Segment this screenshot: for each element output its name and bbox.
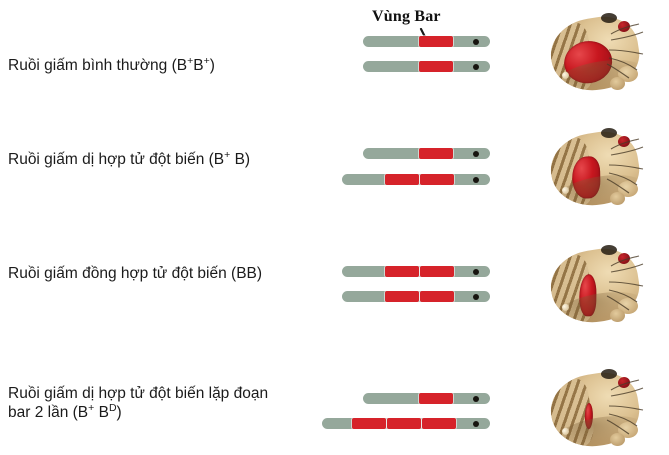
bar-region-segment-duplicate [387, 418, 421, 429]
bar-region-segment [419, 148, 453, 159]
centromere-icon [473, 177, 479, 183]
bar-region-segment [419, 61, 453, 72]
bar-eye-diagram: Vùng Bar Ruồi giấm bình thường (B+B+) [0, 0, 669, 455]
fly-head-wild-type [547, 12, 643, 96]
fly-head-double-bar [547, 368, 643, 452]
bar-region-segment [385, 266, 419, 277]
row-label-wild-type: Ruồi giấm bình thường (B+B+) [8, 56, 215, 75]
centromere-icon [473, 39, 479, 45]
bar-region-segment [352, 418, 386, 429]
bristles-icon [603, 20, 649, 82]
row-label-double-bar: Ruồi giấm dị hợp tử đột biến lặp đoạnbar… [8, 384, 268, 422]
bristles-icon [603, 135, 649, 197]
centromere-icon [473, 151, 479, 157]
fly-head-heterozygous-bar [547, 127, 643, 211]
centromere-icon [473, 64, 479, 70]
centromere-icon [473, 396, 479, 402]
chromosome-top-heterozygous-bar [363, 148, 490, 159]
bar-region-segment [419, 393, 453, 404]
chromosome-bottom-double-bar [322, 418, 490, 429]
chromosome-bottom-heterozygous-bar [342, 174, 490, 185]
row-label-homozygous-bar: Ruồi giấm đồng hợp tử đột biến (BB) [8, 264, 262, 283]
chromosome-bottom-homozygous-bar [342, 291, 490, 302]
bar-region-segment-duplicate [420, 266, 454, 277]
bar-region-segment [385, 291, 419, 302]
chromosome-top-double-bar [363, 393, 490, 404]
bar-region-segment-duplicate [420, 291, 454, 302]
chromosome-top-homozygous-bar [342, 266, 490, 277]
bristles-icon [603, 252, 649, 314]
page-title: Vùng Bar [372, 8, 441, 26]
centromere-icon [473, 421, 479, 427]
chromosome-bottom-wild-type [363, 61, 490, 72]
fly-head-homozygous-bar [547, 244, 643, 328]
bar-region-segment [419, 36, 453, 47]
bar-region-segment-triplicate [422, 418, 456, 429]
centromere-icon [473, 269, 479, 275]
bar-region-segment-duplicate [420, 174, 454, 185]
centromere-icon [473, 294, 479, 300]
chromosome-top-wild-type [363, 36, 490, 47]
row-label-heterozygous-bar: Ruồi giấm dị hợp tử đột biến (B+ B) [8, 150, 250, 169]
bristles-icon [603, 376, 649, 438]
bar-region-segment [385, 174, 419, 185]
